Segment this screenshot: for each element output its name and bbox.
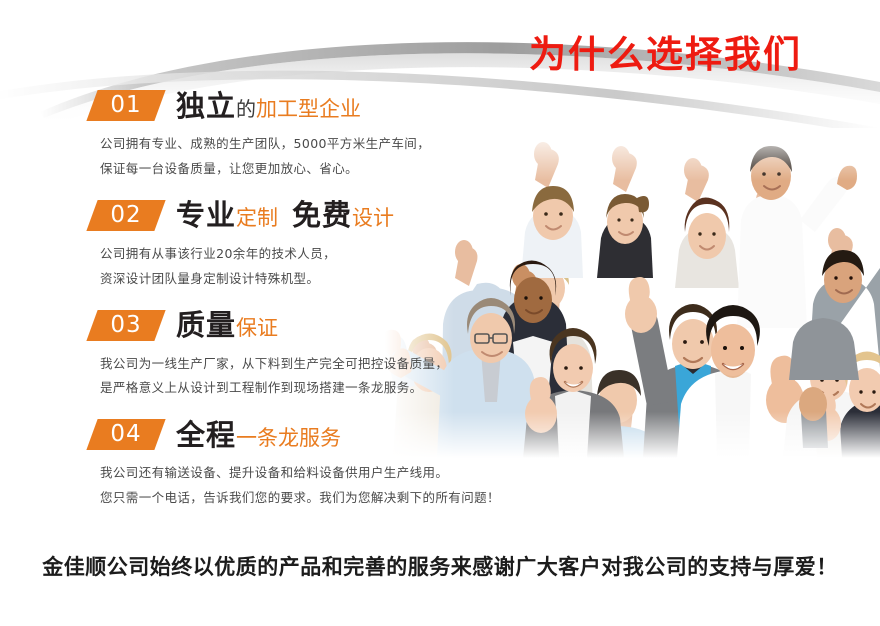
number-badge-label-02: 02 [92,200,160,231]
feature-title-part: 一条龙服务 [236,426,341,450]
feature-title-part: 保证 [236,316,278,340]
promotional-banner: 为什么选择我们 [0,0,880,626]
feature-body-01: 公司拥有专业、成熟的生产团队，5000平方米生产车间， 保证每一台设备质量，让您… [0,136,520,178]
feature-title-part: 独立 [176,89,236,123]
feature-item-03: 03 质量保证 我公司为一线生产厂家，从下料到生产完全可把控设备质量， 是严格意… [0,308,520,398]
feature-title-part: 免费 [292,198,352,232]
feature-body-02: 公司拥有从事该行业20余年的技术人员， 资深设计团队量身定制设计特殊机型。 [0,246,520,288]
number-badge-label-04: 04 [92,419,160,450]
feature-heading-03: 03 质量保证 [0,308,520,344]
feature-list: 01 独立的加工型企业 公司拥有专业、成熟的生产团队，5000平方米生产车间， … [0,88,520,527]
feature-title-part: 定制 [236,206,278,230]
feature-body-line: 保证每一台设备质量，让您更加放心、省心。 [100,161,520,178]
feature-body-line: 公司拥有专业、成熟的生产团队，5000平方米生产车间， [100,136,520,153]
feature-title-01: 独立的加工型企业 [176,92,361,121]
feature-title-part: 全程 [176,418,236,452]
feature-title-04: 全程一条龙服务 [176,421,341,450]
feature-title-part: 加工型企业 [256,97,361,121]
feature-heading-02: 02 专业定制免费设计 [0,198,520,234]
feature-item-02: 02 专业定制免费设计 公司拥有从事该行业20余年的技术人员， 资深设计团队量身… [0,198,520,288]
feature-title-part: 质量 [176,308,236,342]
feature-title-03: 质量保证 [176,311,278,340]
feature-title-part: 设计 [352,206,394,230]
feature-heading-01: 01 独立的加工型企业 [0,88,520,124]
feature-body-line: 资深设计团队量身定制设计特殊机型。 [100,271,520,288]
feature-title-02: 专业定制免费设计 [176,201,394,230]
feature-body-04: 我公司还有输送设备、提升设备和给料设备供用户生产线用。 您只需一个电话，告诉我们… [0,465,520,507]
feature-title-part: 专业 [176,198,236,232]
feature-body-line: 是严格意义上从设计到工程制作到现场搭建一条龙服务。 [100,380,520,397]
feature-body-line: 我公司还有输送设备、提升设备和给料设备供用户生产线用。 [100,465,520,482]
feature-body-line: 我公司为一线生产厂家，从下料到生产完全可把控设备质量， [100,356,520,373]
page-title: 为什么选择我们 [529,24,802,78]
feature-body-03: 我公司为一线生产厂家，从下料到生产完全可把控设备质量， 是严格意义上从设计到工程… [0,356,520,398]
feature-body-line: 您只需一个电话，告诉我们您的要求。我们为您解决剩下的所有问题！ [100,490,520,507]
number-badge-label-01: 01 [92,90,160,121]
feature-title-part: 的 [236,97,256,121]
feature-heading-04: 04 全程一条龙服务 [0,417,520,453]
feature-item-04: 04 全程一条龙服务 我公司还有输送设备、提升设备和给料设备供用户生产线用。 您… [0,417,520,507]
feature-item-01: 01 独立的加工型企业 公司拥有专业、成熟的生产团队，5000平方米生产车间， … [0,88,520,178]
number-badge-label-03: 03 [92,310,160,341]
bottom-tagline: 金佳顺公司始终以优质的产品和完善的服务来感谢广大客户对我公司的支持与厚爱！ [0,551,880,581]
feature-body-line: 公司拥有从事该行业20余年的技术人员， [100,246,520,263]
